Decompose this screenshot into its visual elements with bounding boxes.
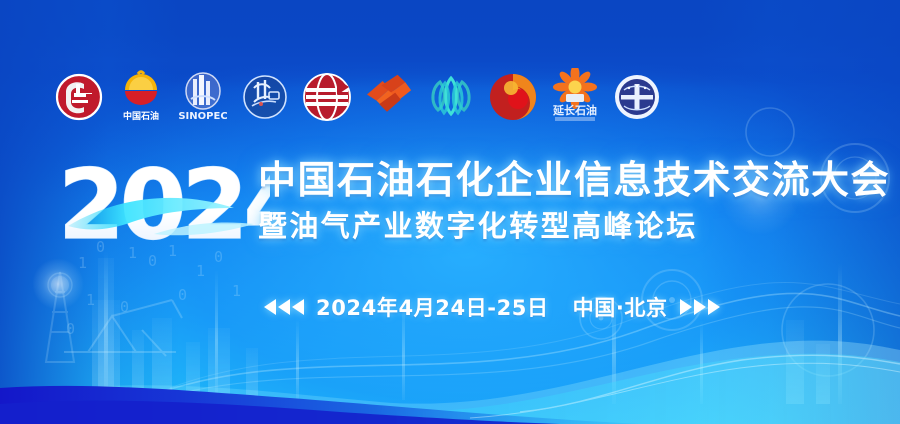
lens-glow-left — [32, 258, 84, 310]
event-meta-row: 2024年4月24日-25日 中国·北京 — [262, 292, 722, 322]
svg-text:延长石油: 延长石油 — [552, 103, 597, 117]
yanchang-petroleum-logo: 延长石油 — [548, 66, 602, 128]
cnooc-logo — [238, 66, 292, 128]
sponsor-logo-strip: 中国石油 SINOPEC — [52, 64, 664, 130]
group-swirl-logo — [486, 66, 540, 128]
event-location: 中国·北京 — [573, 292, 668, 322]
page-title: 中国石油石化企业信息技术交流大会 — [258, 158, 858, 202]
cnpc-engineering-logo — [610, 66, 664, 128]
cnpc-logo — [52, 66, 106, 128]
svg-text:1: 1 — [232, 282, 241, 300]
svg-text:1: 1 — [196, 262, 205, 280]
svg-text:SINOPEC: SINOPEC — [179, 111, 227, 122]
triple-arrow-right-icon — [678, 297, 722, 317]
triple-arrow-left-icon — [262, 297, 306, 317]
svg-text:中国石油: 中国石油 — [123, 110, 159, 122]
svg-text:0: 0 — [178, 286, 187, 304]
national-pipeline-logo — [424, 66, 478, 128]
year-mark: 2024 — [58, 152, 270, 256]
sinopec-logo: SINOPEC — [176, 66, 230, 128]
event-date: 2024年4月24日-25日 — [316, 292, 549, 322]
page-subtitle: 暨油气产业数字化转型高峰论坛 — [258, 209, 858, 243]
petrochina-logo: 中国石油 — [114, 66, 168, 128]
sinochem-logo — [300, 66, 354, 128]
headline-block: 中国石油石化企业信息技术交流大会 暨油气产业数字化转型高峰论坛 — [258, 158, 858, 243]
conference-banner: 1 0 1 1 0 0 1 1 0 0 0 1 — [0, 0, 900, 424]
chemchina-logo — [362, 66, 416, 128]
